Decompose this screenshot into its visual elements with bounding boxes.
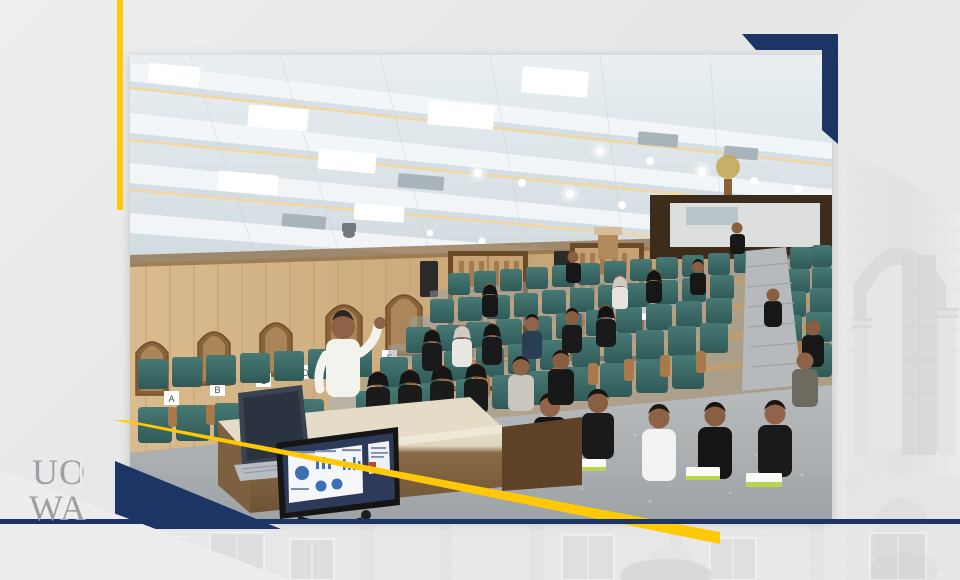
lecture-hall-photo: AB CD EF GH IJ [130, 55, 832, 520]
banner-canvas: AB CD EF GH IJ [0, 0, 960, 580]
uowa-logo-line1: UO [32, 452, 86, 492]
uowa-logo-line2: WA [29, 488, 87, 526]
uowa-logo: UO WA [28, 452, 114, 526]
yellow-vertical-rule [117, 0, 123, 210]
svg-text:A: A [168, 394, 174, 404]
campus-architecture-backdrop-bottom [110, 523, 960, 580]
svg-text:B: B [214, 385, 220, 395]
campus-architecture-backdrop-right [846, 150, 960, 580]
